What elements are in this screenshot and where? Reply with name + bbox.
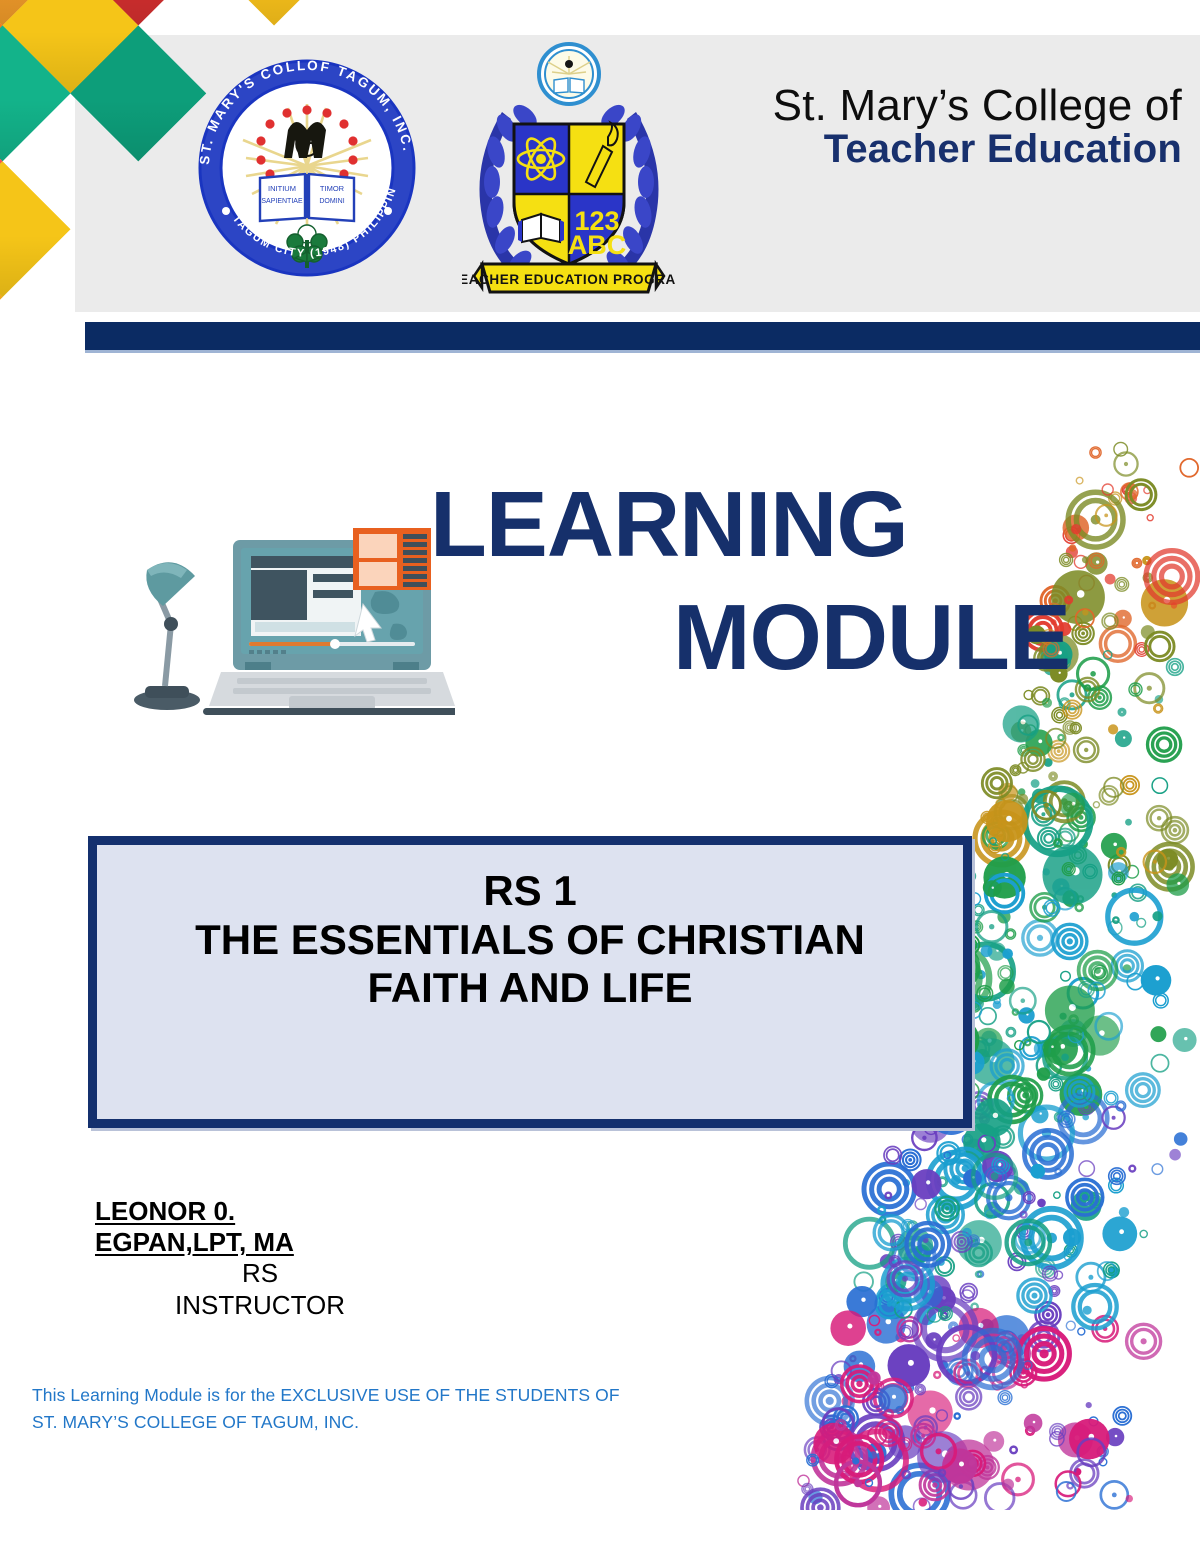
bubble-ring — [992, 1380, 1002, 1390]
bubble-ring — [963, 1228, 971, 1236]
bubble-ring — [1037, 1067, 1050, 1080]
bubble-ring — [1078, 1099, 1094, 1115]
bubble-ring — [1162, 817, 1188, 843]
bubble-ring — [947, 1359, 972, 1384]
bubble-ring — [922, 1435, 956, 1469]
bubble-ring — [850, 1449, 868, 1467]
bubble-ring — [997, 830, 1003, 836]
bubble-ring — [1058, 734, 1064, 740]
title-line2: MODULE — [430, 581, 1070, 694]
bubble-ring — [983, 823, 1009, 849]
bubble-ring — [1079, 840, 1087, 848]
bubble-ring — [1116, 1101, 1126, 1111]
bubble-ring — [1152, 911, 1162, 921]
bubble-ring — [960, 1451, 985, 1476]
bubble-ring — [960, 1284, 977, 1301]
bubble-ring — [1076, 678, 1099, 701]
bubble-ring — [1103, 1107, 1125, 1129]
bubble-ring — [984, 880, 1001, 897]
bubble-ring — [1060, 793, 1085, 818]
bubble-ring — [1018, 794, 1029, 805]
bubble-ring — [1016, 1361, 1028, 1373]
bubble-ring — [950, 1482, 976, 1508]
bubble-ring — [1067, 1179, 1103, 1215]
bubble-ring — [1130, 884, 1147, 901]
bubble-ring — [968, 1235, 980, 1247]
school-name-line1: St. Mary’s College of — [662, 84, 1182, 129]
bubble-ring — [1082, 1114, 1089, 1121]
bubble-ring — [907, 1221, 917, 1231]
bubble-ring — [1025, 725, 1035, 735]
bubble-ring — [1065, 1077, 1094, 1106]
bubble-ring — [1118, 708, 1126, 716]
bubble-ring — [1109, 1178, 1124, 1193]
bubble-ring — [1084, 685, 1090, 691]
bubble-ring — [836, 1461, 880, 1505]
bubble-ring — [1111, 892, 1117, 898]
bubble-ring — [987, 942, 1006, 961]
corner-diamond-tile — [206, 0, 342, 26]
bubble-ring — [1143, 573, 1152, 582]
bubble-ring — [1144, 851, 1166, 873]
bubble-ring — [825, 1375, 838, 1388]
bubble-ring — [823, 1409, 853, 1439]
bubble-ring — [908, 1391, 953, 1436]
bubble-ring — [1024, 1039, 1030, 1045]
bubble-ring — [834, 1406, 858, 1430]
bubble-ring — [1019, 1329, 1070, 1380]
bubble-ring — [1078, 658, 1109, 689]
bubble-ring — [979, 1083, 1014, 1118]
bubble-ring — [1147, 515, 1153, 521]
bubble-ring — [1021, 748, 1044, 771]
bubble-ring — [917, 1431, 968, 1482]
bubble-ring — [1059, 1111, 1075, 1127]
desk-lamp-laptop-illustration — [125, 500, 455, 720]
bubble-ring — [971, 1351, 980, 1360]
bubble-ring — [874, 1216, 908, 1250]
bubble-ring — [935, 1197, 959, 1221]
bubble-ring — [1074, 556, 1087, 569]
bubble-ring — [965, 1331, 1022, 1388]
bubble-ring — [1144, 487, 1151, 494]
module-name-line2: FAITH AND LIFE — [115, 964, 945, 1013]
bubble-ring — [1117, 848, 1126, 857]
bubble-ring — [1046, 1027, 1093, 1074]
bubble-ring — [1167, 873, 1190, 896]
bubble-ring — [878, 1384, 907, 1413]
bubble-ring — [823, 1420, 853, 1450]
bubble-ring — [1010, 1360, 1036, 1386]
bubble-ring — [1029, 1322, 1059, 1352]
corner-diamond-tile — [0, 161, 70, 297]
bubble-ring — [974, 1098, 1013, 1137]
bubble-ring — [1023, 921, 1057, 955]
bubble-ring — [1089, 553, 1104, 568]
bubble-ring — [981, 1098, 988, 1105]
bubble-ring — [1127, 1074, 1160, 1107]
bubble-ring — [1063, 721, 1076, 734]
bubble-ring — [941, 1312, 948, 1319]
bubble-ring — [1070, 847, 1087, 864]
svg-text:INITIUM: INITIUM — [268, 184, 296, 193]
bubble-ring — [838, 1455, 854, 1471]
bubble-ring — [973, 1155, 1016, 1198]
bubble-ring — [1085, 1066, 1091, 1072]
bubble-ring — [1002, 786, 1018, 802]
bubble-ring — [1053, 924, 1087, 958]
bubble-ring — [912, 1434, 920, 1442]
bubble-ring — [1141, 965, 1172, 996]
bubble-ring — [1018, 745, 1029, 756]
bubble-ring — [1031, 1106, 1048, 1123]
bubble-ring — [982, 1151, 1013, 1182]
bubble-ring — [1003, 705, 1040, 742]
bubble-ring — [897, 1228, 933, 1264]
corner-diamond-tile — [0, 26, 70, 162]
bubble-ring — [1018, 1007, 1034, 1023]
bubble-ring — [1149, 602, 1156, 609]
bubble-ring — [1088, 686, 1111, 709]
bubble-ring — [1000, 1339, 1029, 1368]
bubble-ring — [963, 1169, 982, 1188]
bubble-ring — [1015, 1041, 1024, 1050]
bubble-ring — [1141, 579, 1188, 626]
bubble-ring — [981, 811, 993, 823]
bubble-ring — [991, 815, 1003, 827]
bubble-ring — [1021, 1382, 1027, 1388]
bubble-ring — [1024, 1414, 1043, 1433]
bubble-ring — [842, 1396, 854, 1408]
svg-text:TEACHER EDUCATION PROGRAM: TEACHER EDUCATION PROGRAM — [462, 272, 676, 287]
svg-text:DOMINI: DOMINI — [319, 198, 344, 205]
bubble-ring — [880, 1254, 895, 1269]
bubble-ring — [1055, 829, 1075, 849]
bubble-ring — [1031, 779, 1040, 788]
bubble-ring — [1036, 1302, 1061, 1327]
bubble-ring — [949, 1322, 958, 1331]
bubble-ring — [1002, 949, 1013, 960]
bubble-ring — [912, 1169, 942, 1199]
author-role: INSTRUCTOR — [95, 1290, 425, 1321]
bubble-ring — [1017, 1334, 1027, 1344]
bubble-ring — [1059, 698, 1070, 709]
bubble-ring — [957, 1220, 1002, 1265]
bubble-ring — [938, 1259, 944, 1265]
bubble-ring — [1002, 854, 1009, 861]
bubble-ring — [998, 783, 1017, 802]
bubble-ring — [990, 875, 998, 883]
author-block: LEONOR 0. EGPAN,LPT, MA RS INSTRUCTOR — [95, 1196, 425, 1321]
bubble-ring — [899, 1438, 912, 1451]
bubble-ring — [966, 1240, 992, 1266]
bubble-ring — [989, 1356, 1021, 1388]
bubble-ring — [1097, 1446, 1108, 1457]
bubble-ring — [996, 799, 1005, 808]
bubble-ring — [1068, 804, 1095, 831]
bubble-ring — [1129, 1165, 1136, 1172]
bubble-ring — [1032, 789, 1047, 804]
bubble-ring — [1044, 758, 1053, 767]
bubble-ring — [876, 1291, 903, 1318]
bubble-ring — [1108, 1266, 1119, 1277]
bubble-ring — [1077, 1263, 1105, 1291]
bubble-ring — [953, 1335, 959, 1341]
bubble-ring — [872, 1381, 884, 1393]
bubble-ring — [1137, 918, 1146, 927]
bubble-ring — [896, 1406, 903, 1413]
bubble-ring — [848, 1431, 906, 1489]
bubble-ring — [1020, 1211, 1027, 1218]
bubble-ring — [930, 1286, 956, 1312]
bubble-ring — [893, 1297, 900, 1304]
bubble-ring — [1064, 1253, 1072, 1261]
bubble-ring — [985, 1210, 994, 1219]
bubble-ring — [1056, 1472, 1081, 1497]
bubble-ring — [813, 1432, 865, 1484]
corner-diamond-tile — [0, 229, 3, 365]
bubble-ring — [915, 1385, 925, 1395]
bubble-ring — [979, 1135, 996, 1152]
bubble-ring — [1167, 659, 1184, 676]
bubble-ring — [1064, 1244, 1077, 1257]
bubble-ring — [914, 1498, 930, 1510]
bubble-ring — [1017, 1223, 1033, 1239]
bubble-ring — [1054, 888, 1075, 909]
bubble-ring — [1055, 1271, 1063, 1279]
bubble-ring — [944, 1152, 950, 1158]
bubble-ring — [976, 1456, 999, 1479]
bubble-ring — [1114, 442, 1128, 456]
bubble-ring — [1007, 1221, 1050, 1264]
bubble-ring — [888, 1344, 931, 1387]
bubble-ring — [1101, 833, 1127, 859]
bubble-ring — [1096, 1013, 1122, 1039]
bubble-ring — [971, 921, 983, 933]
bubble-ring — [1003, 1464, 1034, 1495]
bubble-ring — [1153, 993, 1168, 1008]
bubble-ring — [830, 1310, 866, 1346]
bubble-ring — [1115, 578, 1129, 592]
bubble-ring — [1043, 845, 1103, 905]
bubble-ring — [984, 1202, 1001, 1219]
module-title-box: RS 1 THE ESSENTIALS OF CHRISTIAN FAITH A… — [88, 836, 972, 1128]
bubble-ring — [802, 1489, 839, 1510]
bubble-ring — [1141, 625, 1155, 639]
bubble-ring — [1037, 1199, 1046, 1208]
bubble-ring — [880, 1289, 896, 1305]
bubble-ring — [986, 875, 1024, 913]
bubble-ring — [998, 820, 1006, 828]
bubble-ring — [977, 986, 993, 1002]
bubble-ring — [1104, 1262, 1120, 1278]
bubble-ring — [1083, 864, 1097, 878]
bubble-ring — [1069, 1015, 1078, 1024]
bubble-ring — [995, 796, 1028, 829]
bubble-ring — [992, 1156, 1009, 1173]
bubble-ring — [1052, 708, 1067, 723]
bubble-ring — [1126, 1495, 1133, 1502]
author-name-line1: LEONOR 0. — [95, 1196, 425, 1227]
bubble-ring — [942, 1448, 977, 1483]
bubble-ring — [865, 1443, 886, 1464]
bubble-ring — [1073, 1285, 1116, 1328]
bubble-ring — [997, 910, 1010, 923]
bubble-ring — [1104, 651, 1112, 659]
bubble-ring — [805, 1437, 830, 1462]
bubble-ring — [1148, 728, 1181, 761]
bubble-ring — [975, 812, 1028, 865]
bubble-ring — [1049, 1077, 1063, 1091]
bubble-ring — [875, 1379, 912, 1416]
bubble-ring — [990, 838, 997, 845]
bubble-ring — [849, 1416, 902, 1469]
bubble-ring — [832, 1361, 851, 1380]
svg-text:SAPIENTIAE: SAPIENTIAE — [261, 198, 303, 205]
svg-text:TIMOR: TIMOR — [320, 184, 345, 193]
bubble-ring — [1018, 763, 1028, 773]
bubble-ring — [1108, 890, 1161, 943]
bubble-ring — [866, 1378, 875, 1387]
bubble-ring — [883, 1259, 933, 1309]
bubble-ring — [976, 1271, 982, 1277]
bubble-ring — [1089, 1417, 1098, 1426]
bubble-ring — [1104, 778, 1123, 797]
bubble-ring — [928, 1197, 964, 1233]
bubble-ring — [1033, 791, 1061, 819]
bubble-ring — [1054, 1192, 1060, 1198]
bubble-ring — [945, 1149, 985, 1189]
bubble-ring — [920, 1275, 951, 1306]
notice-line1: This Learning Module is for the EXCLUSIV… — [32, 1382, 692, 1409]
bubble-ring — [1154, 704, 1163, 713]
bubble-ring — [1071, 1460, 1099, 1488]
bubble-ring — [1028, 1021, 1050, 1043]
bubble-ring — [854, 1272, 873, 1291]
bubble-ring — [900, 1150, 921, 1171]
bubble-ring — [1100, 626, 1135, 661]
bubble-ring — [1126, 480, 1156, 510]
bubble-ring — [1109, 855, 1130, 876]
bubble-ring — [1092, 965, 1107, 980]
bubble-ring — [1063, 1228, 1081, 1246]
bubble-ring — [899, 1325, 913, 1339]
bubble-ring — [961, 1290, 974, 1303]
bubble-ring — [1009, 1079, 1042, 1112]
bubble-ring — [1058, 1422, 1093, 1457]
bubble-ring — [975, 1049, 990, 1064]
bubble-ring — [1007, 1095, 1014, 1102]
bubble-ring — [907, 1223, 950, 1266]
bubble-ring — [934, 1371, 941, 1378]
bubble-ring — [1062, 890, 1079, 907]
bubble-ring — [984, 1315, 1030, 1361]
bubble-ring — [1105, 574, 1116, 585]
bubble-ring — [868, 1371, 881, 1384]
bubble-ring — [866, 1479, 873, 1486]
bubble-ring — [1088, 1193, 1103, 1208]
bubble-ring — [914, 1416, 937, 1439]
bubble-ring — [1068, 978, 1098, 1008]
bubble-ring — [859, 1463, 866, 1470]
bubble-ring — [958, 1308, 998, 1348]
bubble-ring — [1102, 1216, 1137, 1251]
bubble-ring — [1075, 903, 1083, 911]
bubble-ring — [985, 1484, 1014, 1510]
bubble-ring — [920, 1470, 950, 1500]
bubble-ring — [897, 1317, 921, 1341]
bubble-ring — [836, 1420, 846, 1430]
bubble-ring — [1079, 1161, 1094, 1176]
bubble-ring — [1018, 1279, 1051, 1312]
bubble-ring — [1032, 803, 1055, 826]
bubble-ring — [1071, 1190, 1102, 1221]
bubble-ring — [1011, 721, 1032, 742]
bubble-ring — [937, 1142, 959, 1164]
bubble-ring — [1043, 699, 1052, 708]
bubble-ring — [1031, 893, 1059, 921]
bubble-ring — [1127, 1324, 1161, 1358]
bubble-ring — [1038, 1040, 1056, 1058]
bubble-ring — [977, 1271, 983, 1277]
bubble-ring — [1044, 1032, 1078, 1066]
bubble-ring — [913, 1279, 943, 1309]
bubble-ring — [1113, 917, 1119, 923]
bubble-ring — [1155, 695, 1164, 704]
bubble-ring — [1112, 872, 1125, 885]
bubble-ring — [820, 1416, 843, 1439]
bubble-ring — [1108, 921, 1122, 935]
exclusive-use-notice: This Learning Module is for the EXCLUSIV… — [32, 1382, 692, 1436]
bubble-ring — [991, 1050, 1023, 1082]
bubble-ring — [1023, 1209, 1081, 1267]
bubble-ring — [1043, 868, 1050, 875]
bubble-ring — [834, 1375, 843, 1384]
bubble-ring — [1018, 788, 1025, 795]
bubble-ring — [1077, 1191, 1088, 1202]
bubble-ring — [1049, 772, 1057, 780]
bubble-ring — [1084, 1085, 1101, 1102]
bubble-ring — [1064, 802, 1074, 812]
bubble-ring — [1108, 862, 1129, 883]
bubble-ring — [1126, 866, 1139, 879]
bubble-ring — [990, 1333, 1020, 1363]
bubble-ring — [946, 1368, 953, 1375]
bubble-ring — [1066, 1321, 1075, 1330]
bubble-ring — [1052, 878, 1069, 895]
bubble-ring — [896, 1333, 905, 1342]
bubble-ring — [1079, 575, 1094, 590]
author-name-line2: EGPAN,LPT, MA — [95, 1227, 425, 1258]
bubble-ring — [963, 1123, 1001, 1161]
bubble-ring — [878, 1206, 886, 1214]
bubble-ring — [913, 1245, 931, 1263]
bubble-ring — [1062, 863, 1075, 876]
bubble-ring — [928, 1152, 983, 1207]
bubble-ring — [1060, 1073, 1103, 1116]
bubble-ring — [1057, 1482, 1076, 1501]
bubble-ring — [992, 1126, 1014, 1148]
bubble-ring — [983, 878, 1002, 897]
bubble-ring — [1014, 1180, 1029, 1195]
bubble-ring — [917, 1306, 937, 1326]
bubble-ring — [1023, 1192, 1035, 1204]
bubble-ring — [973, 1028, 1002, 1057]
bubble-ring — [802, 1484, 813, 1495]
bubble-ring — [1020, 1107, 1072, 1159]
bubble-ring — [903, 1179, 911, 1187]
bubble-ring — [875, 1329, 881, 1335]
